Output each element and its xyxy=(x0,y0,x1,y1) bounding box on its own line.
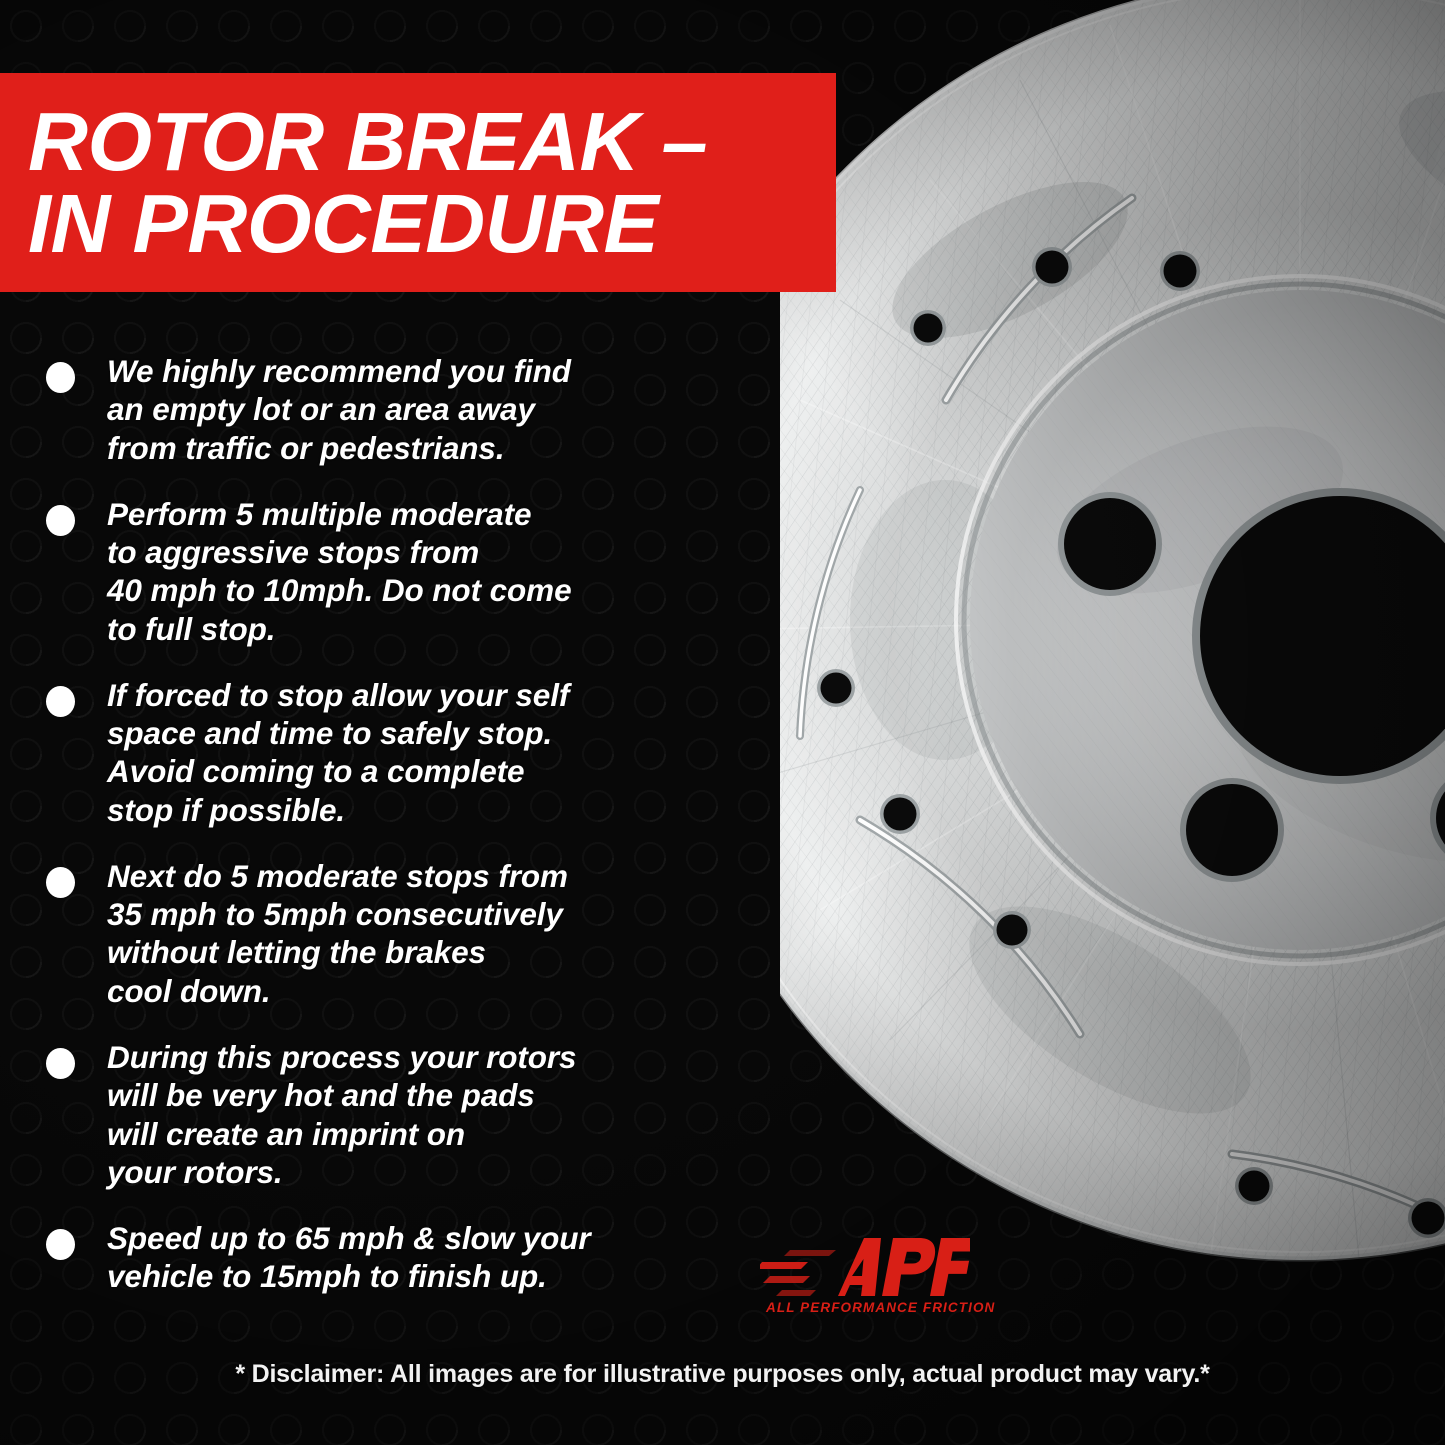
list-item: During this process your rotors will be … xyxy=(46,1038,776,1191)
bullet-dot-icon xyxy=(46,686,75,717)
bullet-dot-icon xyxy=(46,362,75,393)
infographic-canvas: ROTOR BREAK – IN PROCEDURE We highly rec… xyxy=(0,0,1445,1445)
disclaimer-text: * Disclaimer: All images are for illustr… xyxy=(0,1360,1445,1389)
list-item: Next do 5 moderate stops from 35 mph to … xyxy=(46,857,776,1010)
apf-logo-tagline: ALL PERFORMANCE FRICTION xyxy=(766,1300,966,1315)
list-item: Perform 5 multiple moderate to aggressiv… xyxy=(46,495,776,648)
list-item: Speed up to 65 mph & slow your vehicle t… xyxy=(46,1219,776,1296)
step-text: Speed up to 65 mph & slow your vehicle t… xyxy=(107,1219,591,1296)
list-item: If forced to stop allow your self space … xyxy=(46,676,776,829)
step-text: Perform 5 multiple moderate to aggressiv… xyxy=(107,495,572,648)
bullet-dot-icon xyxy=(46,1229,75,1260)
bullet-dot-icon xyxy=(46,505,75,536)
page-title: ROTOR BREAK – IN PROCEDURE xyxy=(0,101,707,264)
step-text: We highly recommend you find an empty lo… xyxy=(107,352,571,467)
step-text: If forced to stop allow your self space … xyxy=(107,676,569,829)
title-banner: ROTOR BREAK – IN PROCEDURE xyxy=(0,73,836,292)
procedure-step-list: We highly recommend you find an empty lo… xyxy=(46,352,776,1324)
step-text: Next do 5 moderate stops from 35 mph to … xyxy=(107,857,568,1010)
list-item: We highly recommend you find an empty lo… xyxy=(46,352,776,467)
bullet-dot-icon xyxy=(46,1048,75,1079)
bullet-dot-icon xyxy=(46,867,75,898)
apf-logo-mark-icon xyxy=(760,1228,970,1308)
step-text: During this process your rotors will be … xyxy=(107,1038,576,1191)
apf-logo: ALL PERFORMANCE FRICTION xyxy=(760,1228,970,1333)
